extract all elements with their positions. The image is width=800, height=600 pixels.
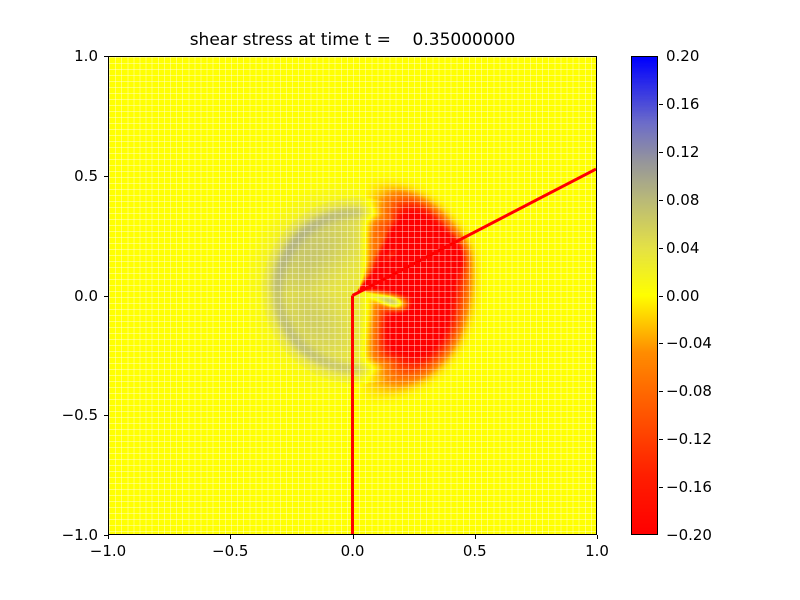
y-tick-mark [104, 535, 108, 536]
colorbar-tick-label: −0.12 [666, 430, 712, 448]
figure-canvas: shear stress at time t = 0.35000000 −1.0… [0, 0, 800, 600]
colorbar-tick-mark [659, 343, 663, 344]
colorbar[interactable] [631, 56, 658, 535]
x-tick-mark [475, 535, 476, 539]
x-tick-label: 0.0 [318, 542, 388, 560]
colorbar-tick-mark [659, 248, 663, 249]
y-tick-mark [104, 56, 108, 57]
y-tick-label: 1.0 [28, 47, 98, 65]
colorbar-tick-label: 0.20 [666, 47, 699, 65]
x-tick-label: −0.5 [195, 542, 265, 560]
colorbar-tick-label: −0.04 [666, 334, 712, 352]
colorbar-tick-mark [659, 104, 663, 105]
x-tick-mark [597, 535, 598, 539]
colorbar-tick-label: 0.12 [666, 143, 699, 161]
main-axes[interactable] [108, 56, 597, 535]
page-title: shear stress at time t = 0.35000000 [108, 30, 597, 50]
colorbar-tick-label: 0.04 [666, 239, 699, 257]
colorbar-tick-mark [659, 296, 663, 297]
colorbar-tick-mark [659, 152, 663, 153]
colorbar-tick-label: −0.20 [666, 526, 712, 544]
y-tick-mark [104, 176, 108, 177]
y-tick-label: 0.0 [28, 287, 98, 305]
colorbar-tick-mark [659, 487, 663, 488]
y-tick-mark [104, 415, 108, 416]
colorbar-tick-label: 0.16 [666, 95, 699, 113]
y-tick-mark [104, 296, 108, 297]
colorbar-tick-mark [659, 439, 663, 440]
y-tick-label: −0.5 [28, 406, 98, 424]
x-tick-mark [108, 535, 109, 539]
colorbar-tick-mark [659, 200, 663, 201]
x-tick-mark [230, 535, 231, 539]
y-tick-label: −1.0 [28, 526, 98, 544]
x-tick-mark [353, 535, 354, 539]
y-tick-label: 0.5 [28, 167, 98, 185]
colorbar-tick-label: 0.08 [666, 191, 699, 209]
x-tick-label: −1.0 [73, 542, 143, 560]
x-tick-label: 1.0 [562, 542, 632, 560]
colorbar-tick-mark [659, 391, 663, 392]
x-tick-label: 0.5 [440, 542, 510, 560]
colorbar-gradient [632, 57, 657, 534]
colorbar-tick-label: −0.08 [666, 382, 712, 400]
shear-stress-heatmap [109, 57, 596, 534]
colorbar-tick-label: −0.16 [666, 478, 712, 496]
colorbar-tick-label: 0.00 [666, 287, 699, 305]
